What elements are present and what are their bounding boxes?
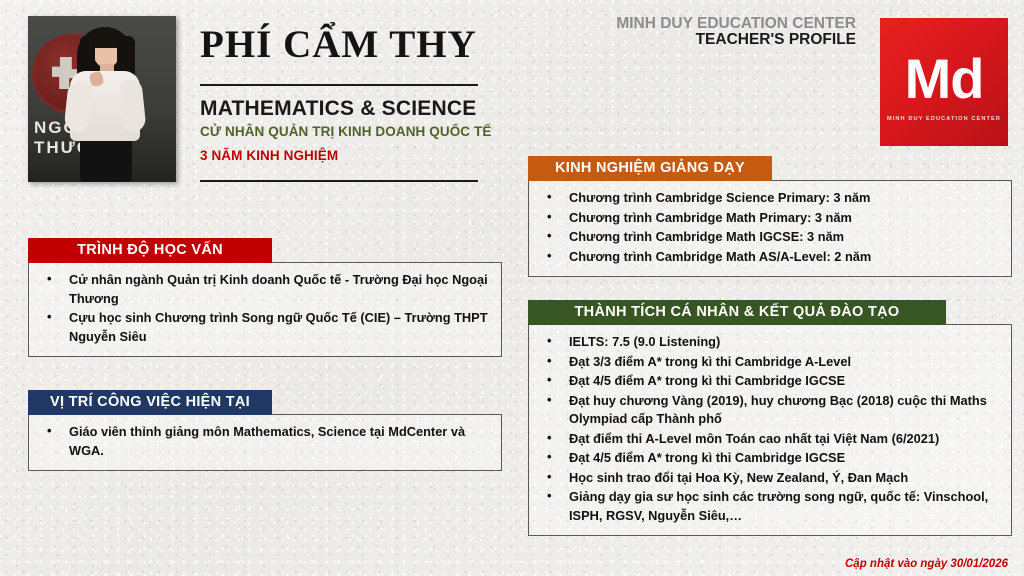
brand-center-name: MINH DUY EDUCATION CENTER <box>616 16 856 32</box>
list-item: Đạt 4/5 điểm A* trong kì thi Cambridge I… <box>539 449 1001 468</box>
list-item: Chương trình Cambridge Math AS/A-Level: … <box>539 248 1001 267</box>
position-list: Giáo viên thỉnh giảng môn Mathematics, S… <box>39 423 491 460</box>
section-education-title: TRÌNH ĐỘ HỌC VẤN <box>28 238 272 263</box>
teacher-profile-slide: NGOẠI THƯƠNG PHÍ CẨM THY MATHEMATICS & S… <box>0 0 1024 576</box>
section-achievements: THÀNH TÍCH CÁ NHÂN & KẾT QUẢ ĐÀO TẠO IEL… <box>528 300 1014 536</box>
section-achievements-body: IELTS: 7.5 (9.0 Listening) Đạt 3/3 điểm … <box>528 324 1012 536</box>
list-item: Đạt 3/3 điểm A* trong kì thi Cambridge A… <box>539 353 1001 372</box>
md-logo-caption: MINH DUY EDUCATION CENTER <box>887 116 1001 122</box>
section-current-position-body: Giáo viên thỉnh giảng môn Mathematics, S… <box>28 414 502 471</box>
update-date-note: Cập nhật vào ngày 30/01/2026 <box>845 558 1008 570</box>
list-item: Chương trình Cambridge Science Primary: … <box>539 189 1001 208</box>
list-item: Đạt điểm thi A-Level môn Toán cao nhất t… <box>539 430 1001 449</box>
list-item: Giảng dạy gia sư học sinh các trường son… <box>539 488 1001 525</box>
list-item: IELTS: 7.5 (9.0 Listening) <box>539 333 1001 352</box>
md-logo: Md MINH DUY EDUCATION CENTER <box>880 18 1008 146</box>
achievements-list: IELTS: 7.5 (9.0 Listening) Đạt 3/3 điểm … <box>539 333 1001 525</box>
brand-document-type: TEACHER'S PROFILE <box>616 32 856 48</box>
list-item: Đạt huy chương Vàng (2019), huy chương B… <box>539 392 1001 429</box>
teacher-photo: NGOẠI THƯƠNG <box>28 16 176 182</box>
divider-bottom <box>200 180 478 182</box>
section-teaching-experience: KINH NGHIỆM GIẢNG DẠY Chương trình Cambr… <box>528 156 1014 277</box>
teacher-subjects: MATHEMATICS & SCIENCE <box>200 97 476 121</box>
brand-header: MINH DUY EDUCATION CENTER TEACHER'S PROF… <box>616 16 856 49</box>
list-item: Giáo viên thỉnh giảng môn Mathematics, S… <box>39 423 491 460</box>
section-education: TRÌNH ĐỘ HỌC VẤN Cử nhân ngành Quản trị … <box>28 238 504 357</box>
section-teaching-experience-body: Chương trình Cambridge Science Primary: … <box>528 180 1012 277</box>
list-item: Cựu học sinh Chương trình Song ngữ Quốc … <box>39 309 491 346</box>
section-teaching-experience-title: KINH NGHIỆM GIẢNG DẠY <box>528 156 772 181</box>
divider-top <box>200 84 478 86</box>
teaching-list: Chương trình Cambridge Science Primary: … <box>539 189 1001 266</box>
teacher-experience: 3 NĂM KINH NGHIỆM <box>200 148 338 163</box>
section-current-position-title: VỊ TRÍ CÔNG VIỆC HIỆN TẠI <box>28 390 272 415</box>
list-item: Học sinh trao đổi tại Hoa Kỳ, New Zealan… <box>539 469 1001 488</box>
teacher-degree: CỬ NHÂN QUẢN TRỊ KINH DOANH QUỐC TẾ <box>200 124 491 139</box>
list-item: Đạt 4/5 điểm A* trong kì thi Cambridge I… <box>539 372 1001 391</box>
list-item: Cử nhân ngành Quản trị Kinh doanh Quốc t… <box>39 271 491 308</box>
section-achievements-title: THÀNH TÍCH CÁ NHÂN & KẾT QUẢ ĐÀO TẠO <box>528 300 946 325</box>
education-list: Cử nhân ngành Quản trị Kinh doanh Quốc t… <box>39 271 491 346</box>
section-education-body: Cử nhân ngành Quản trị Kinh doanh Quốc t… <box>28 262 502 357</box>
md-logo-mark: Md <box>905 51 984 107</box>
portrait-figure <box>28 16 176 182</box>
list-item: Chương trình Cambridge Math IGCSE: 3 năm <box>539 228 1001 247</box>
section-current-position: VỊ TRÍ CÔNG VIỆC HIỆN TẠI Giáo viên thỉn… <box>28 390 504 471</box>
teacher-name: PHÍ CẨM THY <box>200 22 477 67</box>
list-item: Chương trình Cambridge Math Primary: 3 n… <box>539 209 1001 228</box>
